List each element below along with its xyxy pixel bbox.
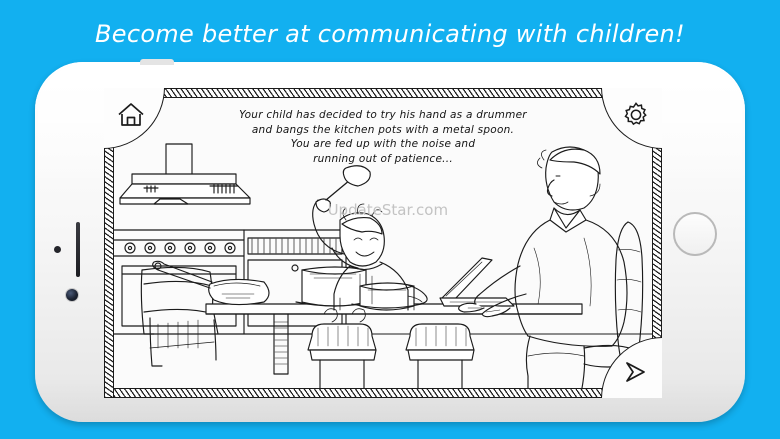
dining-table-drawing	[206, 304, 582, 374]
stool-right-drawing	[406, 324, 474, 388]
story-line-2: and bangs the kitchen pots with a metal …	[104, 123, 662, 138]
earpiece-speaker-icon	[76, 222, 80, 277]
chevron-right-icon	[620, 357, 650, 387]
home-button[interactable]	[673, 212, 717, 256]
app-screen: UpdateStar.com Your child has decided to…	[104, 88, 662, 398]
phone-device: UpdateStar.com Your child has decided to…	[35, 62, 745, 422]
page-title: Become better at communicating with chil…	[0, 20, 780, 48]
story-line-1: Your child has decided to try his hand a…	[104, 108, 662, 123]
frame-hatch-top	[104, 89, 662, 98]
chair-left-drawing	[141, 267, 218, 366]
laptop-drawing	[440, 258, 514, 306]
volume-button[interactable]	[140, 59, 174, 65]
story-text: Your child has decided to try his hand a…	[104, 108, 662, 166]
front-camera-icon	[66, 289, 78, 301]
gear-icon	[622, 101, 650, 129]
cooking-pots-drawing	[296, 267, 422, 310]
home-icon	[117, 102, 145, 128]
story-line-4: running out of patience...	[104, 152, 662, 167]
story-line-3: You are fed up with the noise and	[104, 137, 662, 152]
frame-hatch-bottom	[104, 388, 662, 397]
watermark: UpdateStar.com	[328, 201, 449, 219]
proximity-sensor-icon	[54, 246, 61, 253]
